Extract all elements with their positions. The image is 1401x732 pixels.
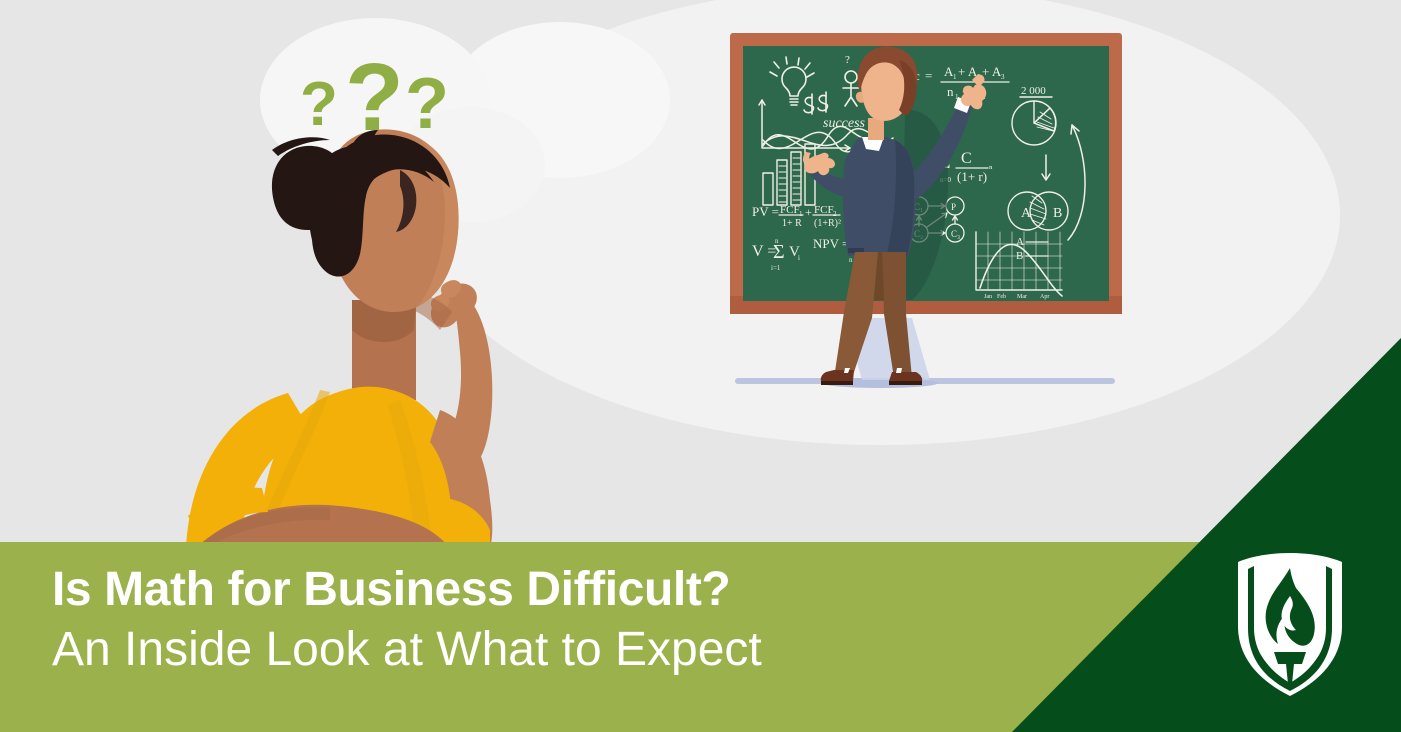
hero-banner-graphic: ? ? ? — [0, 0, 1401, 732]
banner-title-group: Is Math for Business Difficult? An Insid… — [52, 566, 1052, 674]
page-subtitle: An Inside Look at What to Expect — [52, 626, 1052, 674]
page-title: Is Math for Business Difficult? — [52, 566, 1052, 614]
title-banner: Is Math for Business Difficult? An Insid… — [0, 542, 1401, 732]
